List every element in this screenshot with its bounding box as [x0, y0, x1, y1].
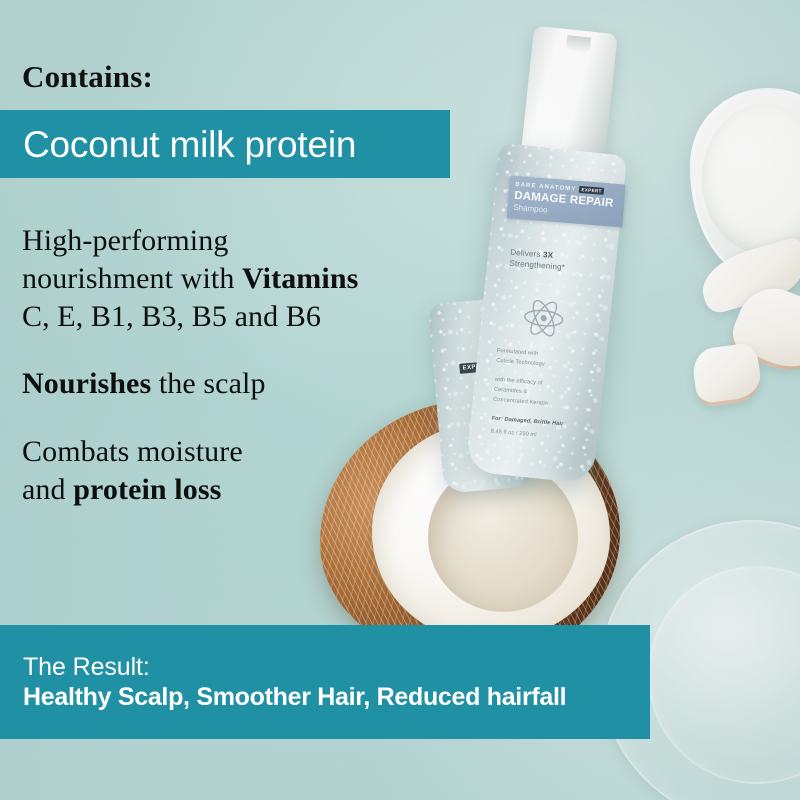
result-text: Healthy Scalp, Smoother Hair, Reduced ha…: [0, 682, 650, 712]
benefit-item: High-performingnourishment with Vitamins…: [22, 222, 462, 335]
hero-ingredient-label: Coconut milk protein: [0, 126, 356, 163]
atom-icon: [520, 294, 568, 342]
bottle-cap: [521, 26, 618, 162]
product-label: BARE ANATOMY EXPERT DAMAGE REPAIR Shampo…: [507, 175, 626, 227]
benefits-list: High-performingnourishment with Vitamins…: [22, 222, 462, 509]
result-band: The Result: Healthy Scalp, Smoother Hair…: [0, 625, 650, 739]
hero-ingredient-band: Coconut milk protein: [0, 110, 450, 178]
label-fineprint: Formulated withCuticle Technologywith th…: [490, 347, 597, 446]
benefit-item: Combats moistureand protein loss: [22, 433, 462, 509]
contains-heading: Contains:: [22, 61, 153, 92]
cap-notch: [566, 35, 592, 53]
expert-badge: EXPERT: [579, 186, 604, 195]
benefit-item: Nourishes the scalp: [22, 365, 462, 403]
product-benefits-poster: EXPERT BARE ANATOMY EXPERT DAMAGE REPAIR…: [0, 0, 800, 800]
result-label: The Result:: [0, 652, 650, 682]
